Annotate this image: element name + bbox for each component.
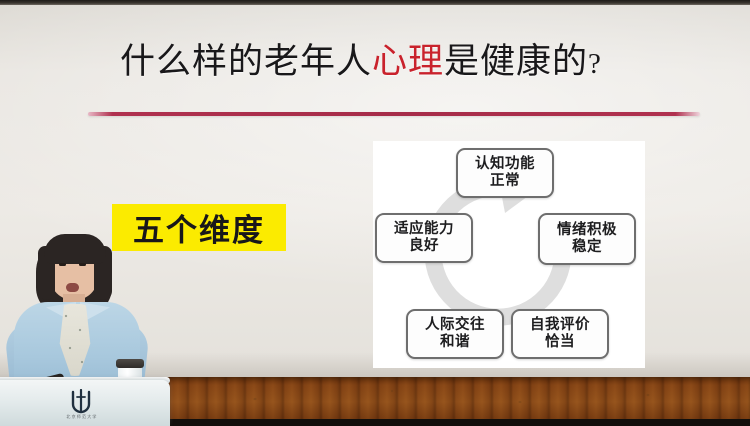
diagram-node-self: 自我评价 恰当 [511, 309, 609, 359]
node-line-1: 情绪积极 [557, 222, 617, 239]
title-underline-rule [88, 112, 700, 116]
node-line-1: 人际交往 [425, 317, 485, 334]
video-lecture-frame: 什么样的老年人心理是健康的? 五个维度 认知功能 正常 适应能力 良好 情绪积极… [0, 0, 750, 426]
title-segment-before: 什么样的老年人 [120, 42, 372, 81]
node-line-2: 和谐 [440, 334, 470, 351]
node-line-2: 正常 [490, 173, 520, 190]
institution-logo-icon [68, 389, 94, 415]
node-line-2: 恰当 [545, 334, 575, 351]
node-line-1: 认知功能 [475, 156, 535, 173]
diagram-node-cognition: 认知功能 正常 [456, 148, 554, 198]
cycle-diagram-panel: 认知功能 正常 适应能力 良好 情绪积极 稳定 人际交往 和谐 自我评价 恰当 [373, 141, 645, 368]
node-line-2: 良好 [409, 238, 439, 255]
slide-title: 什么样的老年人心理是健康的? [120, 42, 640, 82]
diagram-node-social: 人际交往 和谐 [406, 309, 504, 359]
node-line-1: 自我评价 [530, 317, 590, 334]
presenter-eye-right [79, 263, 86, 266]
presenter-mouth [66, 283, 79, 292]
title-question-mark: ? [588, 48, 602, 80]
presenter-hair-front [44, 234, 106, 264]
node-line-2: 稳定 [572, 239, 602, 256]
water-cup-lid [116, 359, 144, 368]
diagram-node-adapt: 适应能力 良好 [375, 213, 473, 263]
title-segment-after: 是健康的 [444, 42, 588, 81]
node-line-1: 适应能力 [394, 221, 454, 238]
title-segment-accent: 心理 [372, 42, 444, 81]
presenter-eye-left [59, 263, 66, 266]
institution-logo-caption: 北京师范大学 [54, 414, 110, 420]
diagram-node-emotion: 情绪积极 稳定 [538, 213, 636, 265]
